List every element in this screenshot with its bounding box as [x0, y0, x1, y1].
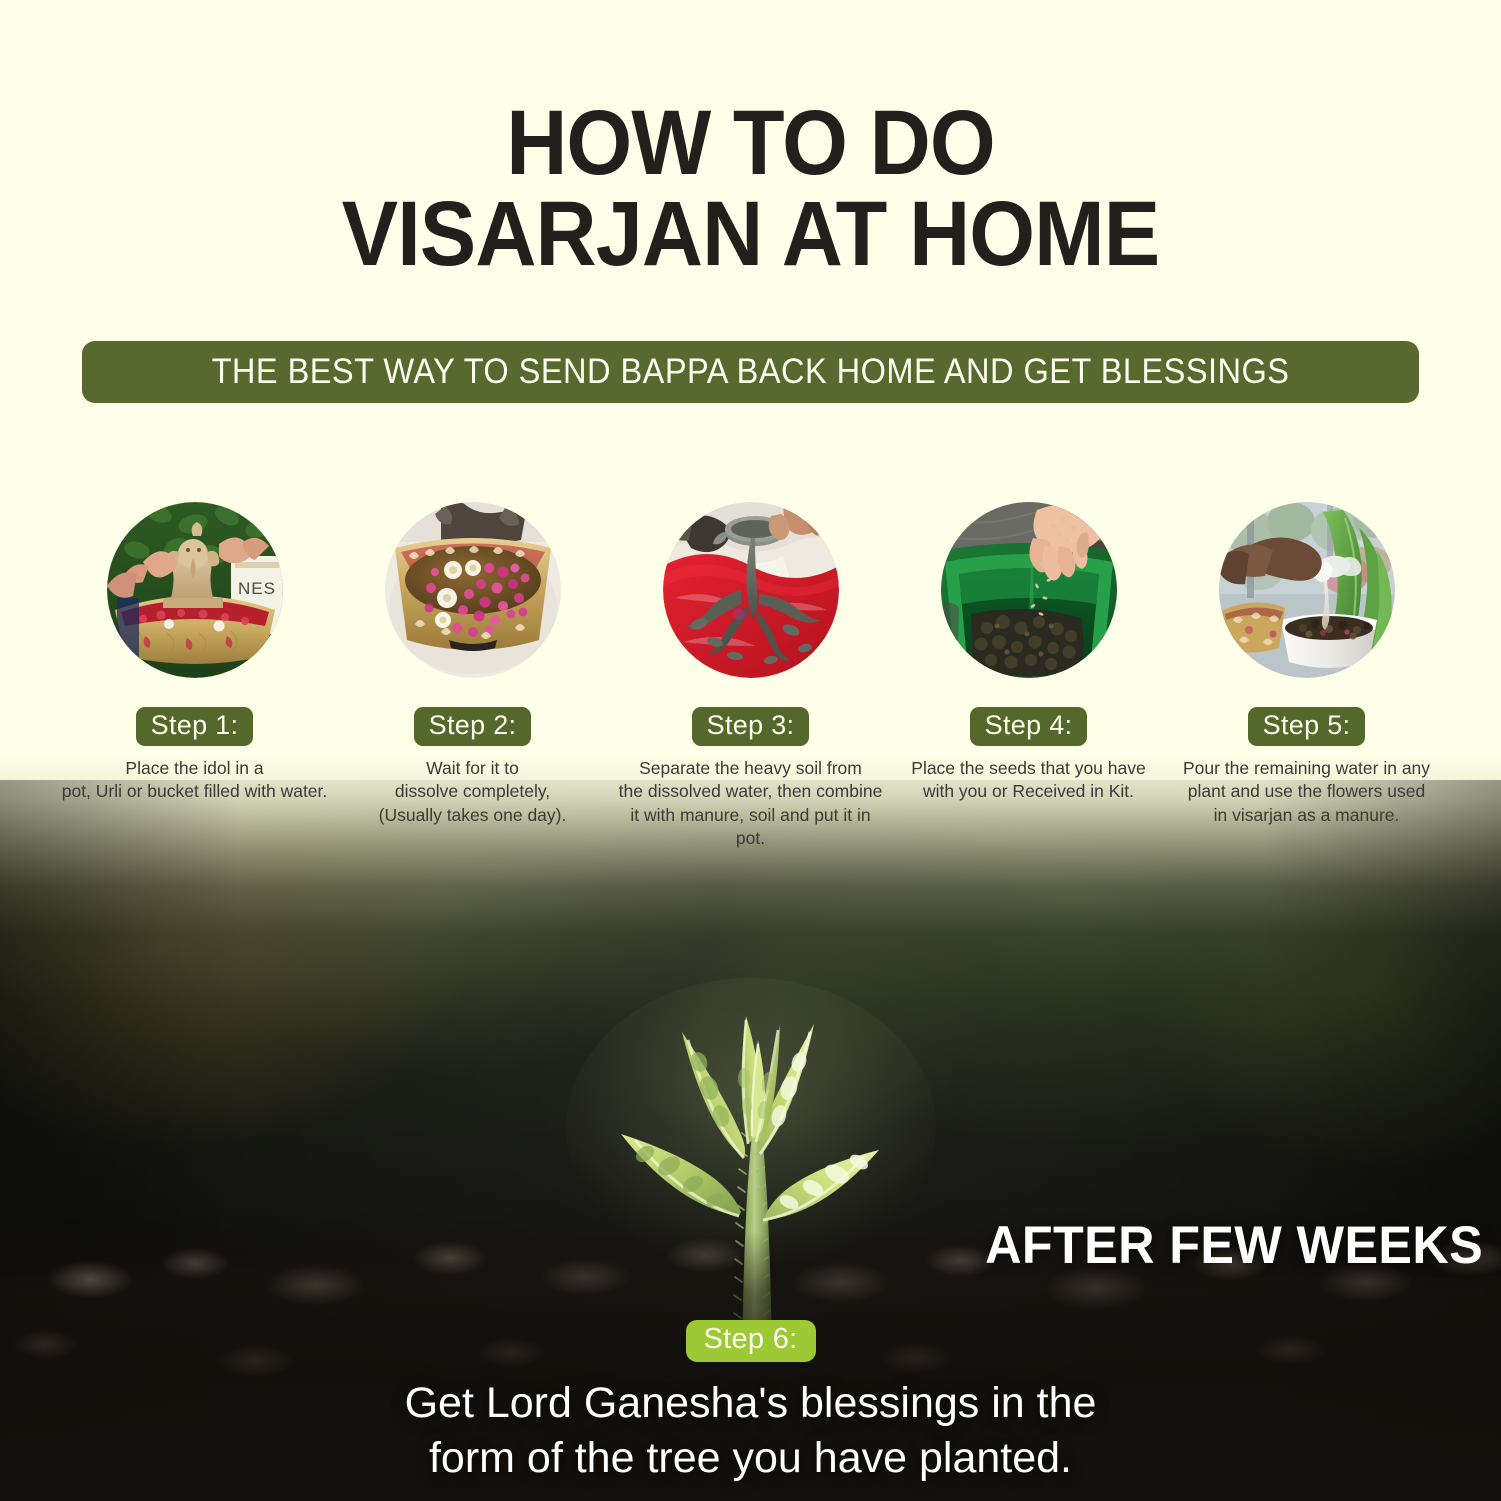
photo-dissolved-idol-flowers [385, 502, 561, 678]
photo-pouring-clay-on-red-cloth [663, 502, 839, 678]
step-item: NES [56, 502, 334, 804]
final-message-line-2: form of the tree you have planted. [0, 1431, 1501, 1486]
step-badge: Step 4: [970, 707, 1088, 746]
photo-idol-in-urli: NES [107, 502, 283, 678]
photo-watering-plant-pot [1219, 502, 1395, 678]
step-badge: Step 1: [136, 707, 254, 746]
step-caption: Pour the remaining water in any plant an… [1183, 757, 1430, 827]
step-caption: Wait for it to dissolve completely, (Usu… [379, 757, 567, 827]
step-caption: Place the seeds that you have with you o… [911, 757, 1145, 804]
final-message-line-1: Get Lord Ganesha's blessings in the [0, 1376, 1501, 1431]
step-badge: Step 5: [1248, 707, 1366, 746]
step-item: Step 4: Place the seeds that you have wi… [890, 502, 1168, 804]
sapling-illustration [541, 958, 961, 1378]
step-6-badge: Step 6: [686, 1320, 816, 1362]
title-line-1: HOW TO DO [60, 98, 1441, 189]
photo-sprinkling-seeds-green-box [941, 502, 1117, 678]
page-title: HOW TO DO VISARJAN AT HOME [60, 98, 1441, 280]
step-caption: Place the idol in a pot, Urli or bucket … [62, 757, 328, 804]
step-badge: Step 2: [414, 707, 532, 746]
step-caption: Separate the heavy soil from the dissolv… [615, 757, 887, 850]
subtitle-banner: THE BEST WAY TO SEND BAPPA BACK HOME AND… [82, 341, 1419, 403]
infographic-poster: HOW TO DO VISARJAN AT HOME THE BEST WAY … [0, 0, 1501, 1501]
step-item: Step 3: Separate the heavy soil from the… [612, 502, 890, 850]
steps-row: NES [0, 502, 1501, 850]
after-few-weeks-label: AFTER FEW WEEKS [985, 1215, 1483, 1276]
step-badge: Step 3: [692, 707, 810, 746]
final-message: Get Lord Ganesha's blessings in the form… [0, 1376, 1501, 1486]
svg-text:NES: NES [238, 579, 276, 598]
subtitle-banner-text: THE BEST WAY TO SEND BAPPA BACK HOME AND… [212, 352, 1290, 392]
step-item: Step 5: Pour the remaining water in any … [1168, 502, 1446, 827]
step-item: Step 2: Wait for it to dissolve complete… [334, 502, 612, 827]
title-line-2: VISARJAN AT HOME [60, 189, 1441, 280]
